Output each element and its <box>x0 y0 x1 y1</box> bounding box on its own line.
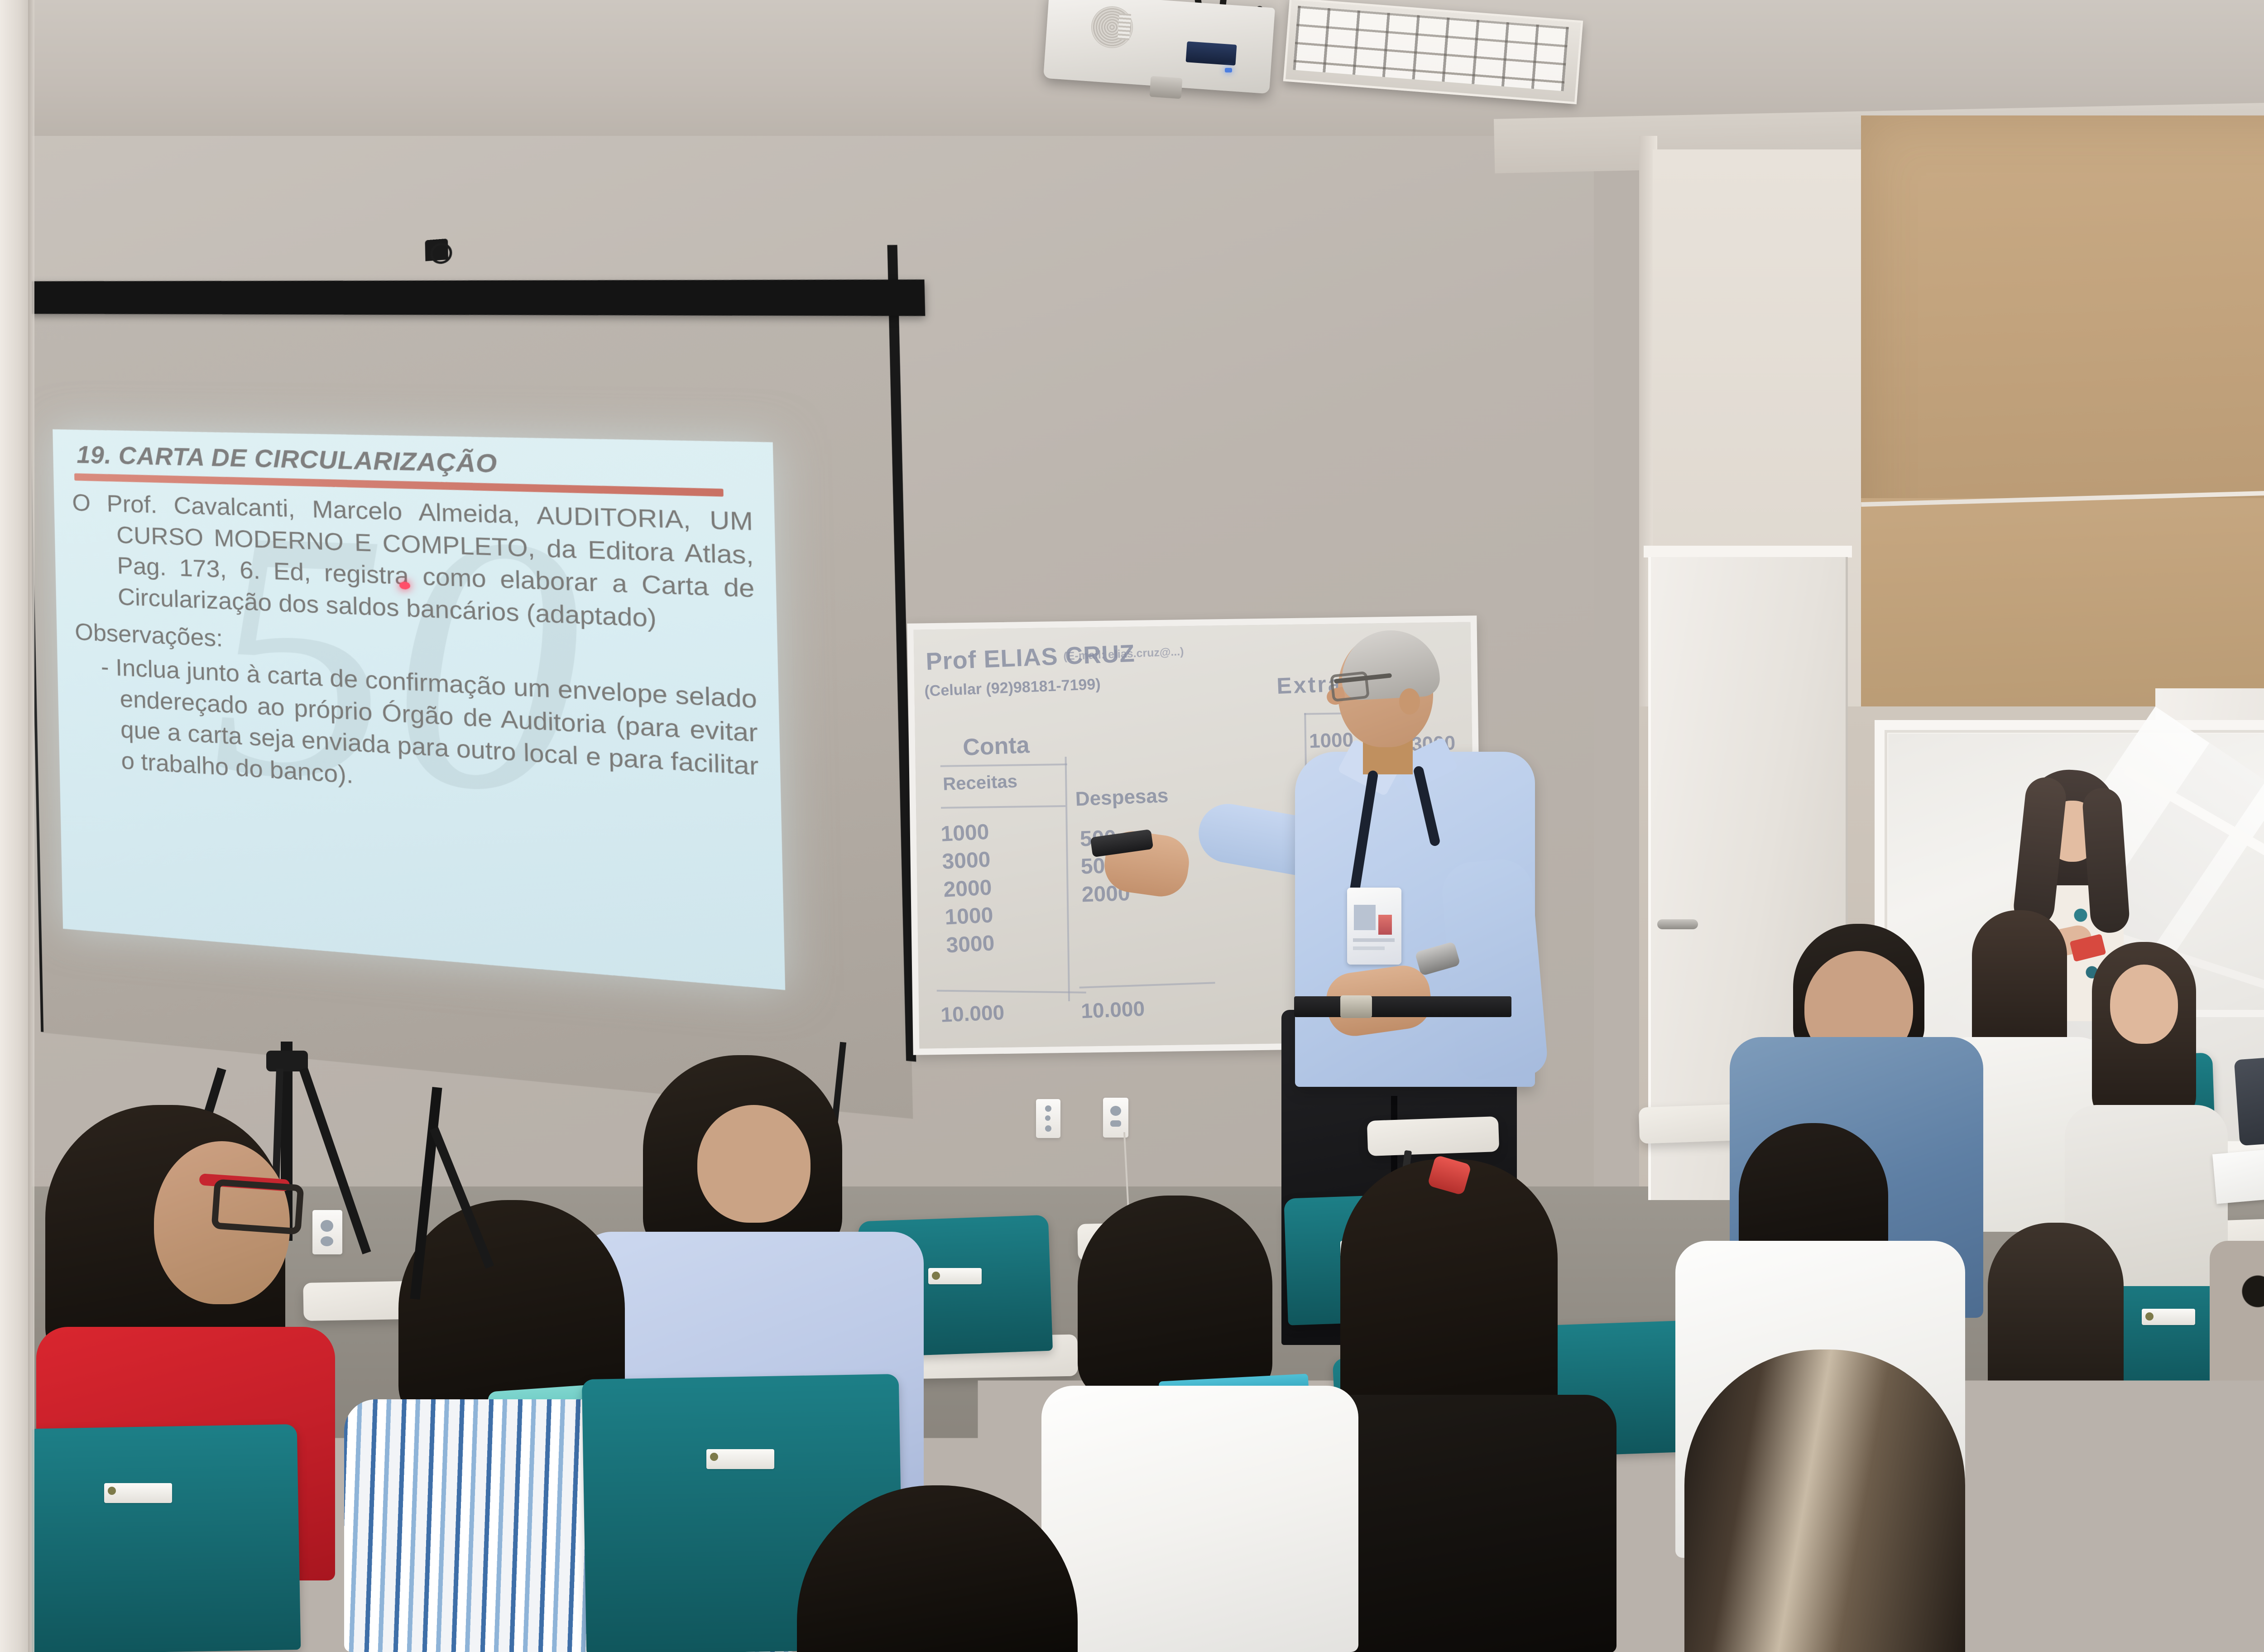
presenter-belt <box>1294 996 1511 1017</box>
whiteboard-rule <box>941 805 1065 809</box>
whiteboard-column-receitas: Receitas <box>943 771 1018 795</box>
whiteboard-rule <box>940 764 1067 767</box>
power-outlet-plate <box>1103 1098 1128 1138</box>
projection-screen: 50 19. CARTA DE CIRCULARIZAÇÃO O Prof. C… <box>28 215 944 1103</box>
whiteboard-divider <box>1065 757 1070 1001</box>
projector-vent-slots <box>1118 13 1131 40</box>
eyeglasses-lens <box>211 1179 304 1235</box>
power-outlet-plate <box>312 1210 342 1254</box>
screen-tripod-hub <box>266 1051 308 1071</box>
audience-hair <box>1988 1223 2124 1413</box>
badge-text-line <box>1353 946 1385 950</box>
audience-head <box>2110 965 2178 1044</box>
audience-torso <box>1041 1386 1358 1652</box>
slide-paragraph-1: O Prof. Cavalcanti, Marcelo Almeida, AUD… <box>72 488 756 639</box>
audience-head <box>697 1105 811 1223</box>
whiteboard-total-rule <box>937 990 1086 994</box>
whiteboard-total-right: 10.000 <box>1080 996 1145 1023</box>
student-desk <box>1367 1116 1500 1156</box>
slide-paragraph-3: - Inclua junto à carta de confirmação um… <box>75 651 760 817</box>
projected-slide: 50 19. CARTA DE CIRCULARIZAÇÃO O Prof. C… <box>53 429 785 990</box>
projector-lens <box>1149 76 1182 99</box>
badge-emblem <box>1378 915 1392 935</box>
student-chair[interactable] <box>25 1424 301 1652</box>
whiteboard-receitas-values: 1000 3000 2000 1000 3000 <box>940 818 995 960</box>
classroom-photo: 50 19. CARTA DE CIRCULARIZAÇÃO O Prof. C… <box>0 0 2264 1652</box>
audience-hair <box>1078 1196 1272 1399</box>
projector-power-led <box>1225 68 1232 72</box>
left-wall-pillar-edge <box>28 0 34 1652</box>
badge-text-line <box>1353 938 1395 942</box>
chair-label <box>2142 1309 2195 1325</box>
presenter-ear <box>1399 688 1420 715</box>
whiteboard-section-conta: Conta <box>962 731 1030 761</box>
audience-torso <box>2210 1241 2264 1522</box>
slide-body: O Prof. Cavalcanti, Marcelo Almeida, AUD… <box>72 488 760 820</box>
door-frame <box>1644 546 1852 557</box>
chair-label <box>104 1483 172 1503</box>
slide-title: 19. CARTA DE CIRCULARIZAÇÃO <box>77 441 498 479</box>
left-wall-pillar <box>0 0 32 1652</box>
whiteboard-total-rule <box>1079 982 1215 988</box>
chair-label <box>706 1449 774 1469</box>
belt-buckle <box>1340 995 1372 1018</box>
whiteboard-column-despesas: Despesas <box>1075 784 1169 811</box>
whiteboard-total-left: 10.000 <box>940 1000 1005 1027</box>
chair-label <box>928 1268 982 1284</box>
audience-hair <box>1684 1349 1965 1652</box>
screen-top-bar <box>28 279 925 316</box>
network-wall-plate <box>1036 1099 1060 1138</box>
whiteboard-phone: (Celular (92)98181-7199) <box>924 676 1101 701</box>
projector-vga-connector <box>1186 41 1237 66</box>
badge-photo <box>1354 905 1376 930</box>
presenter-left-arm <box>1439 857 1549 1081</box>
door-handle-icon[interactable] <box>1657 919 1698 929</box>
